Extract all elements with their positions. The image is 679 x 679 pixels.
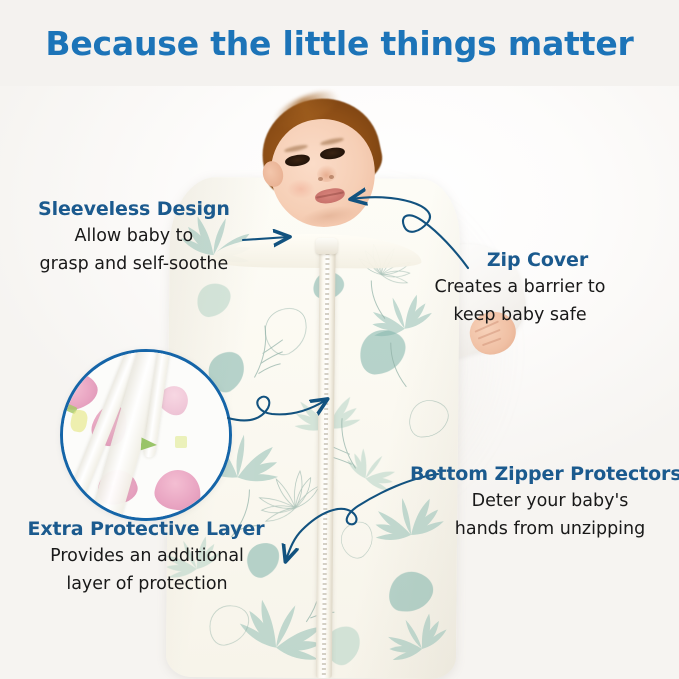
baby-nostril-right [329, 175, 334, 179]
callout-heading: Sleeveless Design [38, 198, 230, 220]
callout-body-line-1: Creates a barrier to [404, 277, 636, 299]
callout-body-line-1: Allow baby to [38, 226, 230, 248]
callout-heading: Bottom Zipper Protectors [410, 463, 679, 485]
page-title: Because the little things matter [0, 24, 679, 63]
callout-extra-protective-layer: Extra Protective Layer Provides an addit… [26, 518, 272, 595]
extra-protective-layer-detail-inset [60, 349, 232, 521]
zipper-teeth [322, 248, 330, 678]
callout-body-line-2: layer of protection [22, 574, 272, 596]
callout-body-line-2: keep baby safe [404, 305, 636, 327]
callout-body-line-1: Provides an additional [22, 546, 272, 568]
baby-cheek [287, 179, 315, 199]
callout-body-line-2: hands from unzipping [428, 519, 672, 541]
callout-body-line-1: Deter your baby's [428, 491, 672, 513]
callout-heading: Zip Cover [440, 249, 635, 271]
callout-zip-cover: Zip Cover Creates a barrier to keep baby… [440, 249, 636, 326]
callout-bottom-zipper-protectors: Bottom Zipper Protectors Deter your baby… [410, 463, 679, 540]
callout-body-line-2: grasp and self-soothe [38, 254, 230, 276]
callout-heading: Extra Protective Layer [26, 518, 266, 540]
baby-head [265, 103, 377, 231]
infographic-canvas: Because the little things matter [0, 0, 679, 679]
tulip-stem [175, 436, 187, 448]
zipper-pull [316, 238, 338, 254]
callout-sleeveless-design: Sleeveless Design Allow baby to grasp an… [38, 198, 230, 275]
baby-nostril-left [318, 177, 323, 181]
